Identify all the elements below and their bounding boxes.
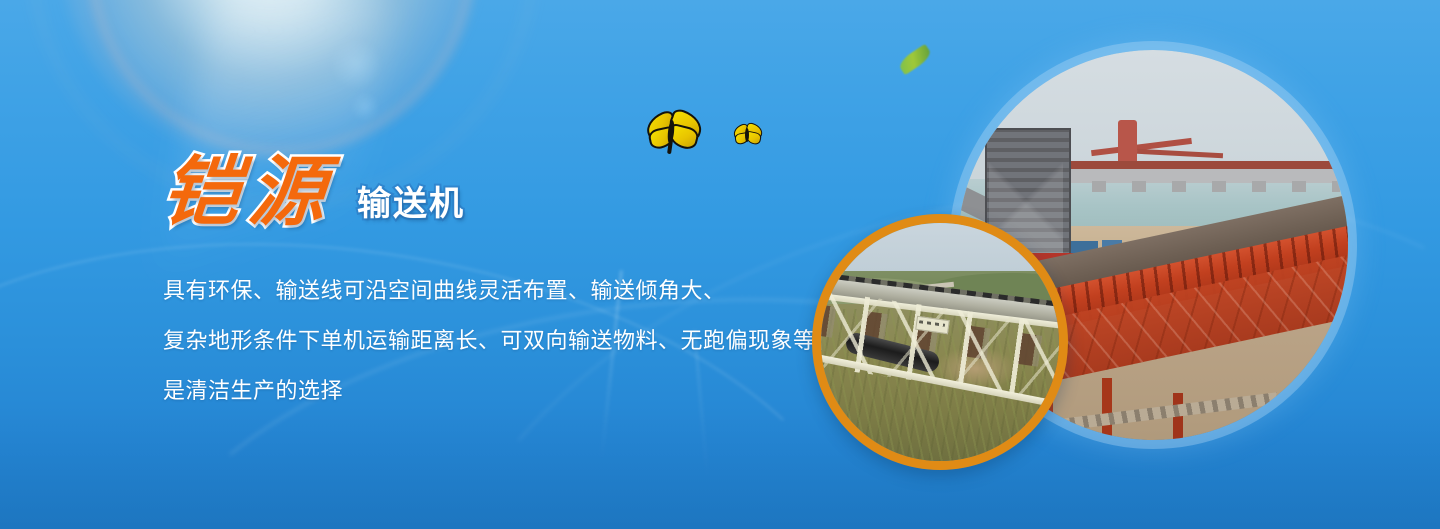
promo-banner: 铠源 输送机 具有环保、输送线可沿空间曲线灵活布置、输送倾角大、 复杂地形条件下… — [0, 0, 1440, 529]
description-line-1: 具有环保、输送线可沿空间曲线灵活布置、输送倾角大、 — [163, 266, 863, 316]
brand-name: 铠源 — [160, 154, 339, 230]
banner-title-row: 铠源 输送机 — [163, 138, 863, 230]
product-name: 输送机 — [357, 187, 465, 221]
lens-flare-dot-small-icon — [350, 92, 380, 122]
butterfly-icon — [733, 124, 763, 148]
butterfly-icon — [645, 112, 703, 156]
description-line-3: 是清洁生产的选择 — [163, 366, 863, 416]
lens-flare-dot-icon — [330, 38, 382, 90]
banner-description: 具有环保、输送线可沿空间曲线灵活布置、输送倾角大、 复杂地形条件下单机运输距离长… — [163, 266, 863, 416]
banner-text-block: 铠源 输送机 具有环保、输送线可沿空间曲线灵活布置、输送倾角大、 复杂地形条件下… — [163, 138, 863, 416]
truss-support-leg-2 — [1102, 378, 1112, 440]
pier-support-legs — [1052, 181, 1341, 193]
photo-circle-small — [812, 214, 1068, 470]
sun-flare-ring-icon — [88, 0, 474, 154]
leaf-icon — [897, 44, 934, 75]
description-line-2: 复杂地形条件下单机运输距离长、可双向输送物料、无跑偏现象等特点， — [163, 316, 863, 366]
sun-glow-icon — [60, 0, 480, 160]
photo-small-content — [821, 223, 1059, 461]
